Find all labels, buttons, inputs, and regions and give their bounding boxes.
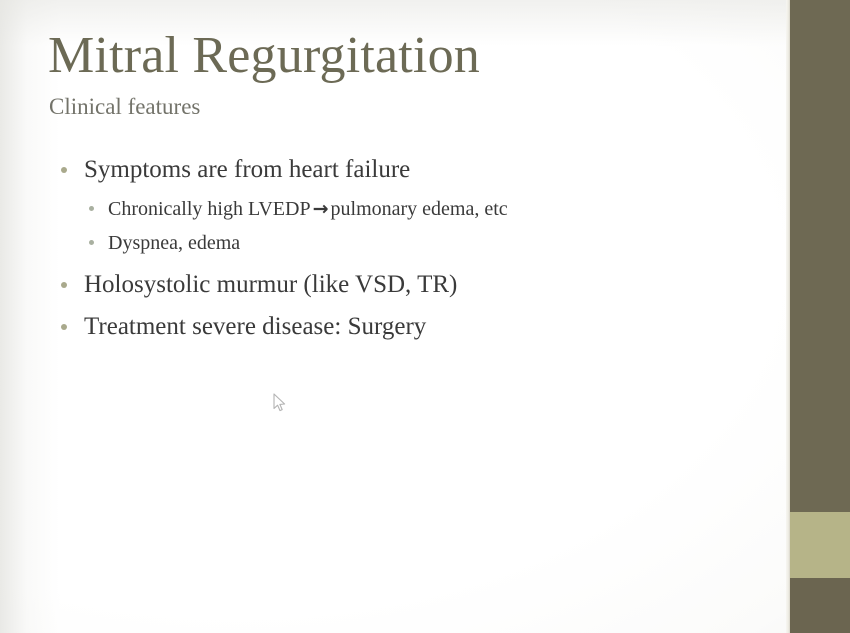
sidebar-band-bottom	[790, 578, 850, 633]
sub-bullet-dot-icon	[89, 240, 94, 245]
bullet-level2-dyspnea: Dyspnea, edema	[56, 226, 756, 260]
bullet-level2-lvedp-text-before: Chronically high LVEDP	[108, 198, 311, 220]
bullet-level1-murmur-text: Holosystolic murmur (like VSD, TR)	[84, 271, 457, 298]
mouse-pointer-icon	[273, 393, 287, 413]
right-arrow-icon: →	[311, 198, 331, 220]
bullet-level1-treatment: Treatment severe disease: Surgery	[56, 307, 756, 347]
bullet-level1-treatment-text: Treatment severe disease: Surgery	[84, 313, 426, 340]
bullet-level2-lvedp-text-after: pulmonary edema, etc	[331, 198, 508, 220]
sidebar-band-top	[790, 0, 850, 512]
bullet-dot-icon	[61, 324, 67, 330]
presentation-slide: Mitral Regurgitation Clinical features S…	[0, 0, 850, 633]
slide-subtitle: Clinical features	[49, 93, 200, 121]
sub-bullet-dot-icon	[89, 206, 94, 211]
bullet-level1-symptoms-text: Symptoms are from heart failure	[84, 156, 410, 183]
slide-decorative-sidebar	[790, 0, 850, 633]
slide-title: Mitral Regurgitation	[48, 27, 480, 85]
bullet-level2-dyspnea-text: Dyspnea, edema	[108, 232, 240, 254]
bullet-dot-icon	[61, 167, 67, 173]
sidebar-band-middle	[790, 512, 850, 578]
bullet-level1-murmur: Holosystolic murmur (like VSD, TR)	[56, 265, 756, 305]
bullet-dot-icon	[61, 282, 67, 288]
bullet-level1-symptoms: Symptoms are from heart failure	[56, 150, 756, 190]
bullet-level2-lvedp: Chronically high LVEDP→pulmonary edema, …	[56, 192, 756, 226]
slide-body-content: Symptoms are from heart failure Chronica…	[56, 150, 756, 347]
